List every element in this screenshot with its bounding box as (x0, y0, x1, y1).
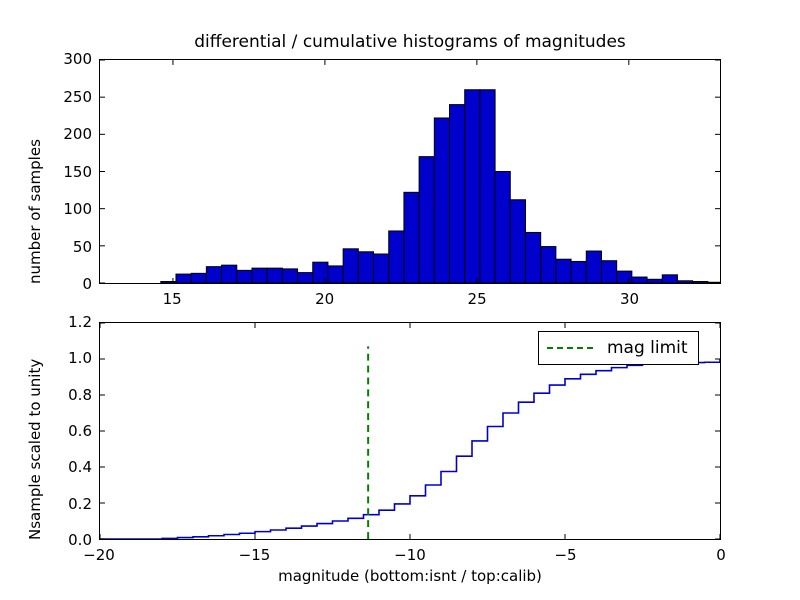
bottom-xtick-label: −10 (394, 546, 426, 564)
mag-limit-line-swatch-icon (547, 347, 593, 349)
histogram-bar (677, 281, 692, 283)
histogram-bar (176, 274, 191, 283)
bottom-ytick-label: 1.2 (68, 313, 92, 331)
histogram-bar (541, 247, 556, 283)
bottom-ytick-label: 0.8 (68, 386, 92, 404)
top-axis-ylabel: number of samples (26, 139, 44, 284)
histogram-bar (662, 275, 677, 283)
histogram-bar (571, 261, 586, 283)
top-xtick-label: 30 (620, 290, 639, 308)
top-axes-histogram (99, 59, 721, 284)
histogram-bar (480, 90, 495, 283)
histogram-bar (282, 269, 297, 283)
histogram-bar (419, 157, 434, 283)
top-xtick-label: 15 (163, 290, 182, 308)
x-axis-label: magnitude (bottom:isnt / top:calib) (99, 567, 721, 585)
histogram-bar (252, 268, 267, 283)
histogram-bar (556, 259, 571, 283)
legend-box: mag limit (538, 331, 699, 365)
top-ytick-label: 300 (63, 50, 92, 68)
histogram-bar (161, 282, 176, 283)
bottom-xtick-label: 0 (716, 546, 726, 564)
histogram-bar (267, 268, 282, 283)
histogram-bar (328, 266, 343, 283)
histogram-bar (389, 231, 404, 283)
bottom-xtick-label: −15 (239, 546, 271, 564)
figure-title: differential / cumulative histograms of … (99, 32, 721, 52)
histogram-bar (343, 249, 358, 283)
differential-histogram-plot (100, 60, 720, 283)
bottom-ytick-label: 0.0 (68, 531, 92, 549)
histogram-bar (298, 273, 313, 283)
bottom-ytick-label: 0.2 (68, 495, 92, 513)
histogram-bar (617, 271, 632, 283)
histogram-bar (404, 192, 419, 283)
cumulative-curve (100, 359, 720, 539)
bottom-xtick-label: −5 (554, 546, 576, 564)
histogram-bar (632, 277, 647, 283)
histogram-bar (434, 118, 449, 283)
histogram-bar (237, 270, 252, 283)
bottom-axis-ylabel: Nsample scaled to unity (26, 359, 44, 540)
bottom-ytick-label: 1.0 (68, 349, 92, 367)
histogram-bar (191, 273, 206, 283)
histogram-bar (525, 232, 540, 283)
histogram-bar (647, 279, 662, 283)
histogram-bar (601, 261, 616, 283)
top-ytick-label: 100 (63, 200, 92, 218)
histogram-bar (586, 251, 601, 283)
histogram-bar (510, 200, 525, 283)
top-ytick-label: 200 (63, 125, 92, 143)
histogram-bar (450, 105, 465, 283)
top-ytick-label: 0 (82, 275, 92, 293)
top-ytick-label: 50 (73, 238, 92, 256)
top-ytick-label: 150 (63, 163, 92, 181)
histogram-bar (495, 172, 510, 284)
bottom-ytick-label: 0.4 (68, 458, 92, 476)
bottom-ytick-label: 0.6 (68, 422, 92, 440)
top-xtick-label: 20 (315, 290, 334, 308)
histogram-bar (222, 265, 237, 283)
histogram-bar (693, 282, 708, 283)
histogram-bar (206, 267, 221, 283)
top-xtick-label: 25 (468, 290, 487, 308)
histogram-bar (374, 254, 389, 283)
histogram-bar (358, 252, 373, 283)
histogram-bar (465, 90, 480, 283)
matplotlib-figure: differential / cumulative histograms of … (0, 0, 800, 600)
histogram-bar (313, 262, 328, 283)
top-ytick-label: 250 (63, 88, 92, 106)
legend-entry-label: mag limit (607, 338, 688, 358)
